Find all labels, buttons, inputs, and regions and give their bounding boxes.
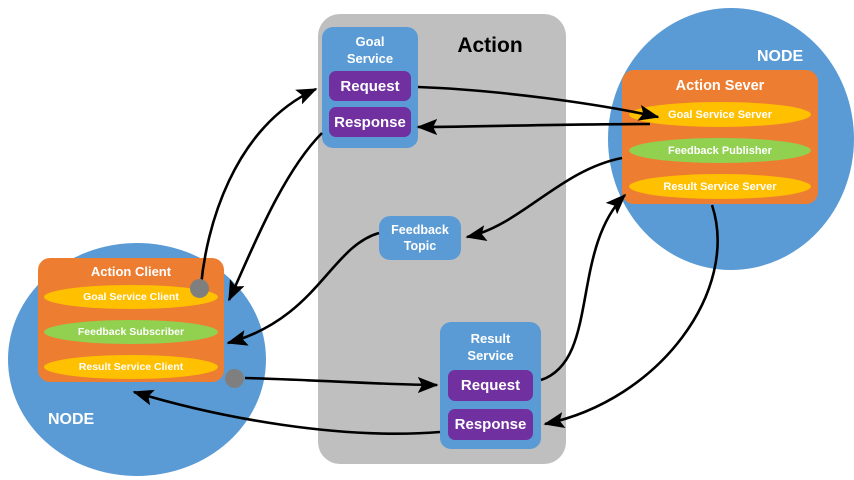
goal-service-title-line2: Service: [347, 51, 393, 66]
goal-service-title: Goal Service: [322, 33, 418, 67]
pill-result-service-server[interactable]: Result Service Server: [629, 174, 811, 199]
feedback-topic-title: Feedback Topic: [379, 222, 461, 254]
feedback-topic-title-line2: Topic: [404, 239, 436, 253]
result-service-title-line1: Result: [471, 331, 511, 346]
result-service-box: Result Service Request Response: [440, 322, 541, 449]
arrow-goal-response-to-client: [229, 133, 322, 300]
feedback-topic-title-line1: Feedback: [391, 223, 449, 237]
goal-service-box: Goal Service Request Response: [322, 27, 418, 148]
result-service-client-connector-dot: [225, 369, 244, 388]
client-node-label: NODE: [48, 411, 94, 429]
goal-service-title-line1: Goal: [356, 34, 385, 49]
result-service-response-box[interactable]: Response: [448, 409, 533, 440]
action-panel-title: Action: [430, 34, 550, 58]
result-service-request-box[interactable]: Request: [448, 370, 533, 401]
goal-service-request-box[interactable]: Request: [329, 71, 411, 101]
result-service-title: Result Service: [440, 330, 541, 364]
pill-goal-service-server[interactable]: Goal Service Server: [629, 102, 811, 127]
arrow-goal-client-to-request: [201, 89, 316, 286]
pill-feedback-publisher[interactable]: Feedback Publisher: [629, 138, 811, 163]
action-server-box: Action Sever Goal Service Server Feedbac…: [622, 70, 818, 204]
pill-result-service-client[interactable]: Result Service Client: [44, 355, 218, 379]
feedback-topic-box[interactable]: Feedback Topic: [379, 216, 461, 260]
pill-feedback-subscriber[interactable]: Feedback Subscriber: [44, 320, 218, 344]
diagram-canvas: Action: [0, 0, 854, 480]
action-client-title: Action Client: [38, 264, 224, 279]
result-service-title-line2: Service: [467, 348, 513, 363]
action-client-box: Action Client Goal Service Client Feedba…: [38, 258, 224, 382]
server-node-label: NODE: [757, 48, 803, 66]
goal-service-client-connector-dot: [190, 279, 209, 298]
action-server-title: Action Sever: [622, 78, 818, 94]
goal-service-response-box[interactable]: Response: [329, 107, 411, 137]
